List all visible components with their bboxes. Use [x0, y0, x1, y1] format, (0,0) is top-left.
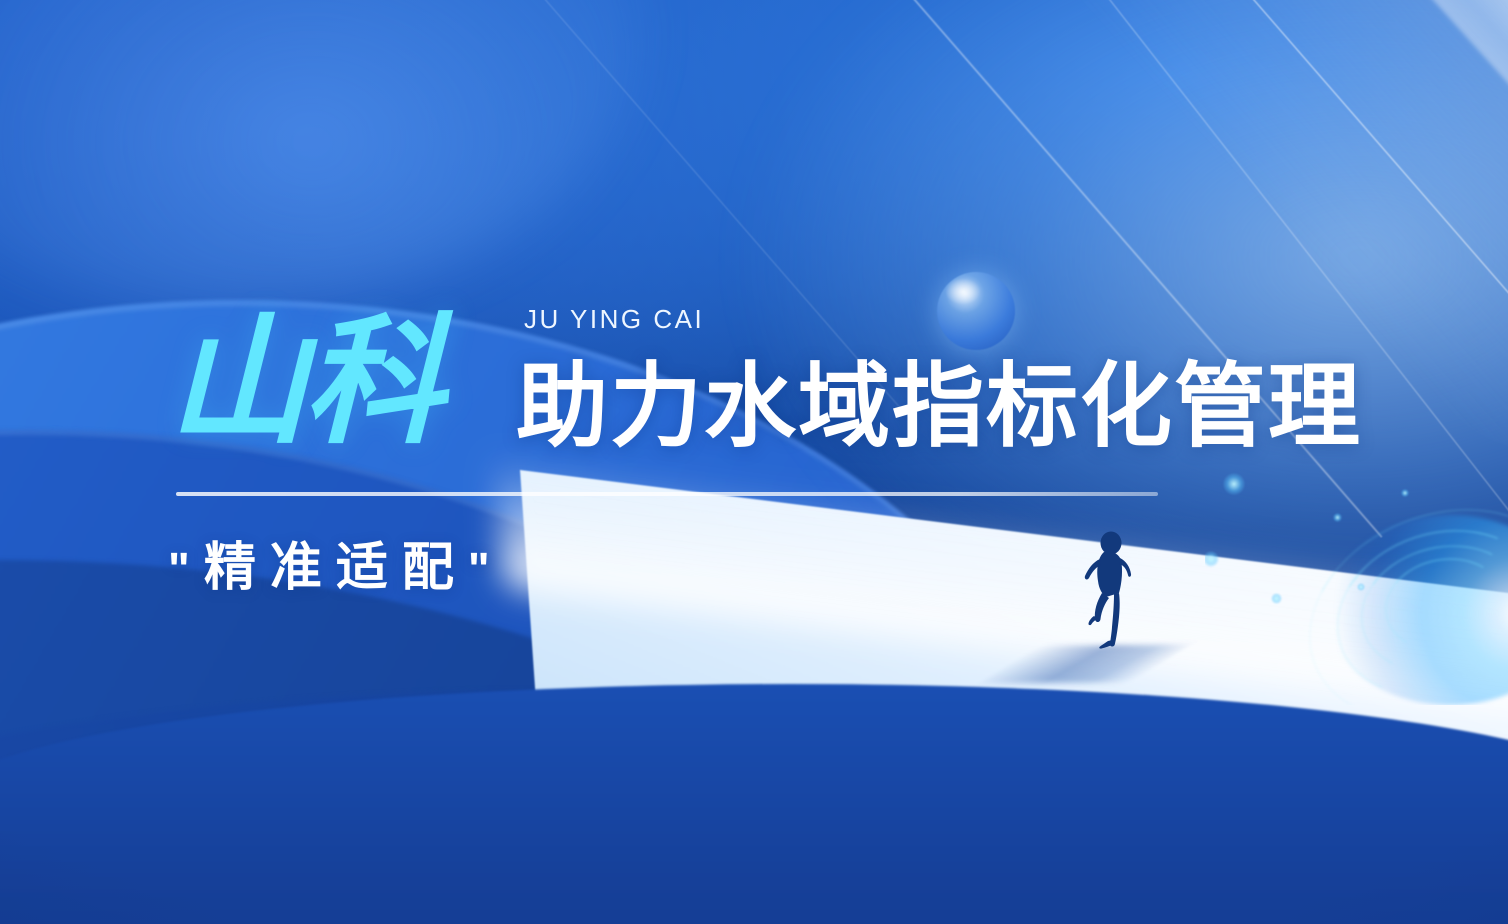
banner-content: 山科 JU YING CAI 助力水域指标化管理 "精准适配"	[0, 0, 1508, 924]
horizontal-divider	[176, 492, 1158, 496]
page-title: 助力水域指标化管理	[516, 358, 1362, 457]
tagline-close-quote: "	[468, 543, 504, 595]
tagline-open-quote: "	[168, 543, 204, 595]
brand-pinyin: JU YING CAI	[524, 306, 704, 332]
tagline: "精准适配"	[168, 539, 504, 599]
tagline-text: 精准适配	[204, 539, 468, 597]
promo-banner: 山科 JU YING CAI 助力水域指标化管理 "精准适配"	[0, 0, 1508, 924]
brand-logo: 山科	[168, 312, 440, 452]
